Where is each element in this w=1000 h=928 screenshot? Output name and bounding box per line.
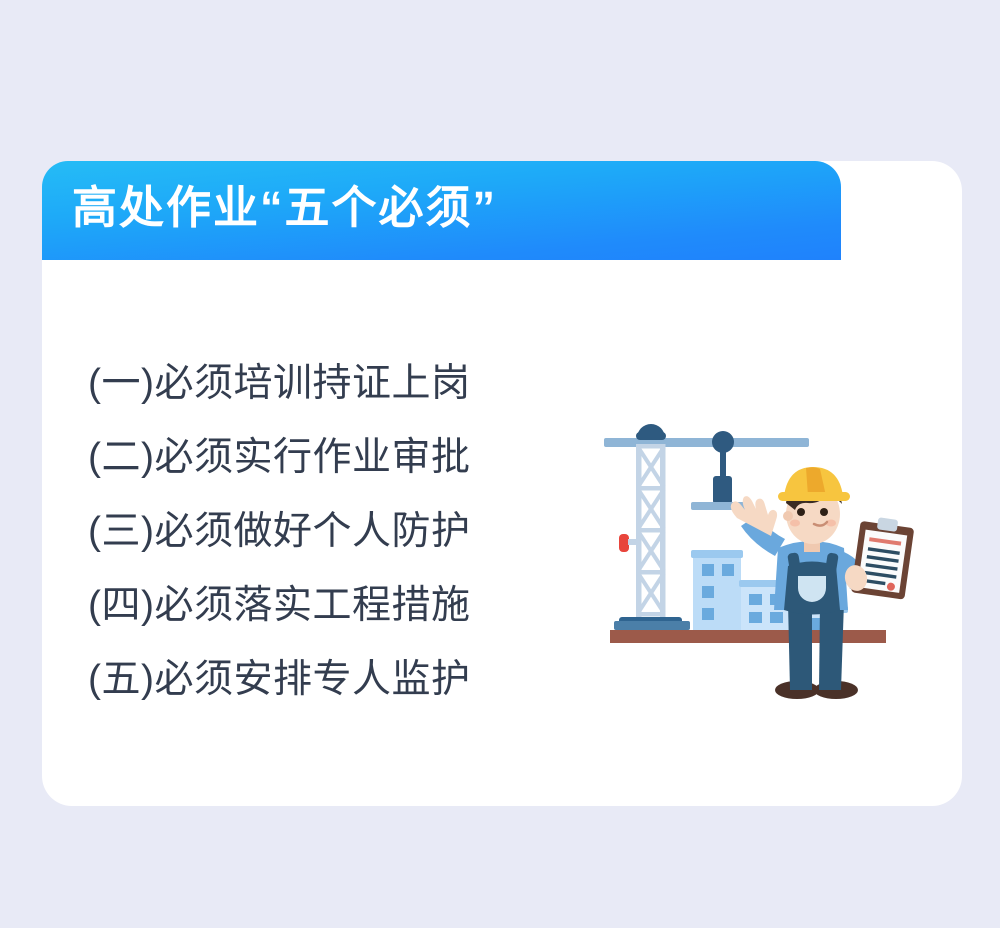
list-item: (一)必须培训持证上岗 — [88, 347, 470, 421]
ground-strip — [610, 630, 886, 643]
page-title: 高处作业“五个必须” — [72, 176, 497, 240]
poster-card: 高处作业“五个必须” (一)必须培训持证上岗 (二)必须实行作业审批 (三)必须… — [42, 161, 962, 806]
card-body: 高处作业“五个必须” (一)必须培训持证上岗 (二)必须实行作业审批 (三)必须… — [42, 161, 962, 806]
list-item: (三)必须做好个人防护 — [88, 495, 470, 569]
warning-light-icon — [619, 534, 637, 552]
list-item: (四)必须落实工程措施 — [88, 569, 470, 643]
list-item: (五)必须安排专人监护 — [88, 643, 470, 717]
construction-worker-illustration — [592, 406, 952, 716]
title-bar: 高处作业“五个必须” — [42, 161, 841, 260]
list-item: (二)必须实行作业审批 — [88, 421, 470, 495]
safety-helmet-icon — [778, 467, 850, 501]
requirements-list: (一)必须培训持证上岗 (二)必须实行作业审批 (三)必须做好个人防护 (四)必… — [88, 347, 470, 717]
